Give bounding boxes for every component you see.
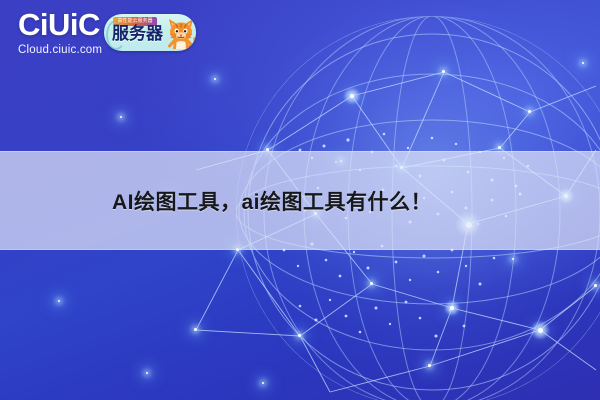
network-node bbox=[120, 116, 122, 118]
network-node bbox=[194, 328, 197, 331]
site-logo[interactable]: CiUiC Cloud.ciuic.com bbox=[18, 9, 102, 57]
network-node bbox=[442, 70, 445, 73]
page-title: AI绘图工具，ai绘图工具有什么！ bbox=[112, 186, 432, 216]
title-band: AI绘图工具，ai绘图工具有什么！ bbox=[0, 151, 600, 250]
network-node bbox=[350, 94, 354, 98]
promo-banner: AI绘图工具，ai绘图工具有什么！ CiUiC Cloud.ciuic.com … bbox=[0, 0, 600, 400]
badge-label: 服务器 bbox=[112, 25, 163, 42]
network-node bbox=[450, 306, 454, 310]
network-node bbox=[538, 328, 543, 333]
logo-domain: Cloud.ciuic.com bbox=[18, 45, 102, 57]
orange-cat-mascot-icon bbox=[164, 16, 196, 51]
server-badge[interactable]: 高性能云服务器 服务器 bbox=[104, 14, 196, 51]
network-node bbox=[214, 78, 216, 80]
network-node bbox=[512, 258, 514, 260]
network-node bbox=[498, 146, 501, 149]
network-node bbox=[428, 364, 431, 367]
network-node bbox=[528, 110, 531, 113]
logo-wordmark: CiUiC bbox=[18, 9, 102, 40]
network-node bbox=[370, 282, 373, 285]
network-node bbox=[594, 284, 597, 287]
network-node bbox=[298, 334, 301, 337]
network-node bbox=[146, 372, 148, 374]
network-node bbox=[262, 382, 264, 384]
network-node bbox=[58, 300, 60, 302]
network-node bbox=[582, 62, 584, 64]
